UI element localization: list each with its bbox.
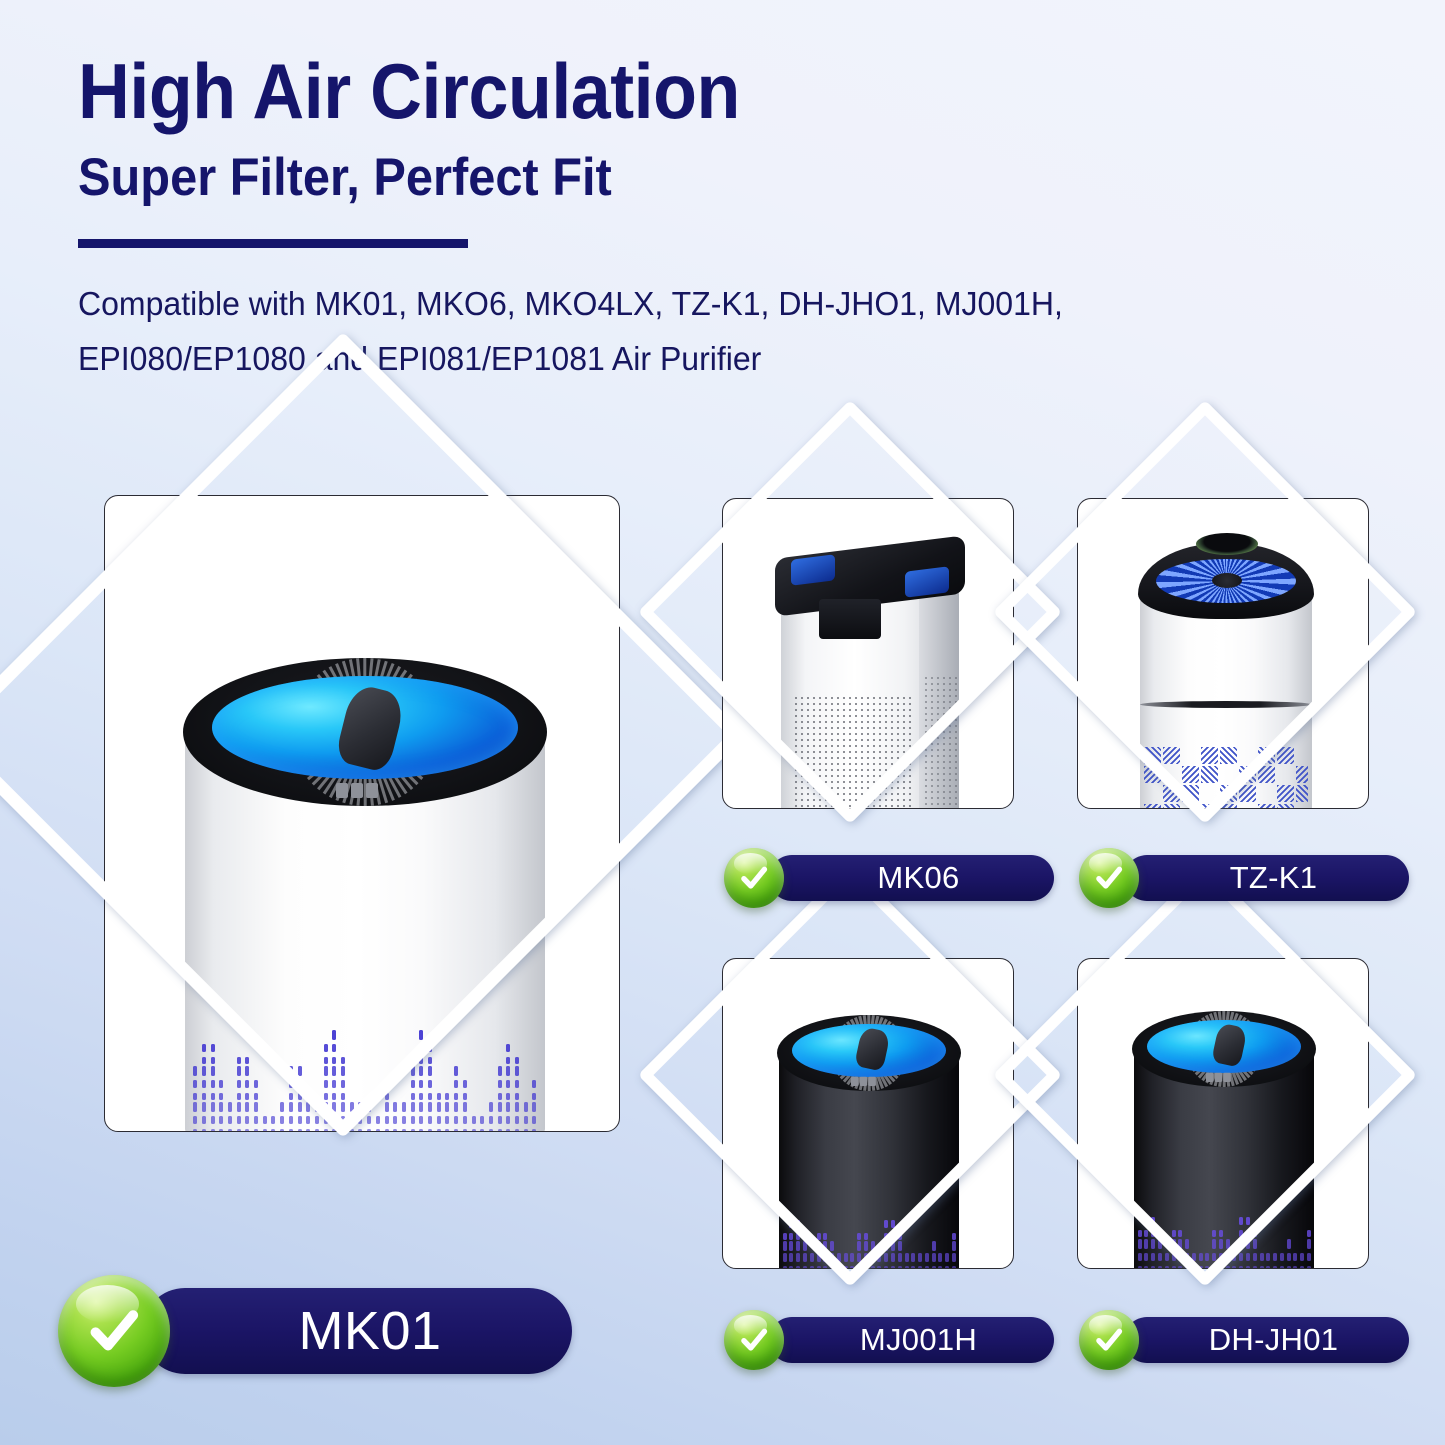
display-panel [819, 599, 881, 639]
compatibility-badge-tzk1[interactable]: TZ-K1 [1079, 848, 1409, 908]
base-perforations [1136, 1211, 1312, 1268]
product-illustration-mk06 [723, 499, 1013, 808]
control-buttons [851, 1077, 876, 1086]
product-illustration-tzk1 [1078, 499, 1368, 808]
product-card-mj001h [722, 958, 1014, 1269]
top-fan-assembly [183, 658, 547, 806]
product-illustration-mj001h [723, 959, 1013, 1268]
compatibility-badge-mk06[interactable]: MK06 [724, 848, 1054, 908]
base-perforations [781, 1215, 957, 1268]
check-icon [1079, 1310, 1139, 1370]
badge-label: MJ001H [769, 1317, 1054, 1363]
compatibility-badge-mj001h[interactable]: MJ001H [724, 1310, 1054, 1370]
badge-label: MK01 [142, 1288, 572, 1374]
badge-label: DH-JH01 [1124, 1317, 1409, 1363]
control-buttons [336, 783, 378, 798]
top-outlet [1196, 533, 1258, 555]
base-perforations [191, 1026, 539, 1131]
product-card-mk06 [722, 498, 1014, 809]
check-icon [58, 1275, 170, 1387]
body-seam-ring [1140, 701, 1312, 708]
badge-label: MK06 [769, 855, 1054, 901]
page-title: High Air Circulation [78, 52, 1274, 132]
check-icon [724, 1310, 784, 1370]
top-fan-assembly [777, 1015, 961, 1091]
base-hatch-pattern [1144, 747, 1308, 808]
compatibility-line-2: EPI080/EP1080 and EPI081/EP1081 Air Puri… [78, 333, 1339, 384]
top-fan-assembly [1132, 1011, 1316, 1087]
grille-glow-cell [905, 566, 949, 597]
badge-label: TZ-K1 [1124, 855, 1409, 901]
compatibility-badge-dhjh01[interactable]: DH-JH01 [1079, 1310, 1409, 1370]
compatibility-line-1: Compatible with MK01, MKO6, MKO4LX, TZ-K… [78, 278, 1339, 329]
title-underline-rule [78, 239, 468, 248]
product-illustration-dhjh01 [1078, 959, 1368, 1268]
fan-hub [1212, 573, 1242, 588]
side-mesh-vent [923, 675, 957, 808]
check-icon [1079, 848, 1139, 908]
front-mesh-vent [793, 695, 911, 807]
compatibility-badge-mk01[interactable]: MK01 [58, 1275, 572, 1387]
product-card-tzk1 [1077, 498, 1369, 809]
product-card-dhjh01 [1077, 958, 1369, 1269]
control-buttons [1206, 1073, 1231, 1082]
grille-glow-cell [791, 554, 835, 585]
infographic-canvas: High Air Circulation Super Filter, Perfe… [0, 0, 1445, 1445]
header-block: High Air Circulation Super Filter, Perfe… [78, 52, 1378, 384]
product-illustration-mk01 [105, 496, 619, 1131]
page-subtitle: Super Filter, Perfect Fit [78, 150, 1274, 206]
product-card-mk01 [104, 495, 620, 1132]
check-icon [724, 848, 784, 908]
